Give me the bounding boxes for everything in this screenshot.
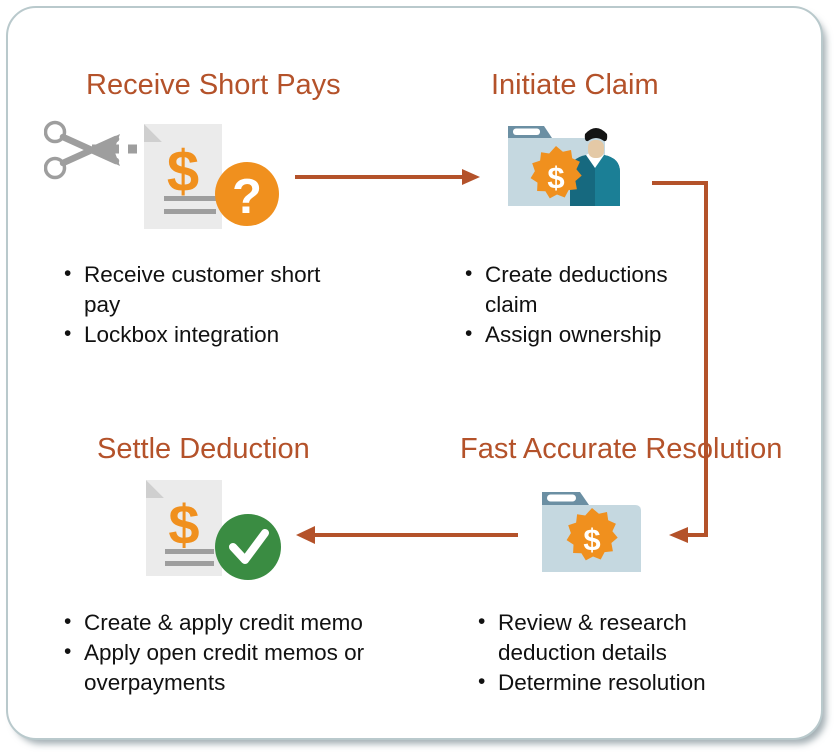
arrow-head-left-icon <box>669 527 688 543</box>
claim-folder-person-icon: $ <box>500 114 655 231</box>
list-item: Review & research deduction details <box>476 608 766 668</box>
diagram-card: Receive Short Pays Initiate Claim Settle… <box>6 6 823 740</box>
scissors-cut-invoice-question-icon: $ ? <box>44 116 284 241</box>
bullet-list-fast-accurate-resolution: Review & research deduction details Dete… <box>476 608 766 698</box>
step-heading-initiate-claim: Initiate Claim <box>491 68 659 102</box>
bullet-list-initiate-claim: Create deductions claim Assign ownership <box>463 260 723 350</box>
list-item: Determine resolution <box>476 668 766 698</box>
step-heading-receive-short-pays: Receive Short Pays <box>86 68 341 102</box>
connector-initiate-to-resolution <box>648 168 738 558</box>
folder-tab-icon <box>542 492 589 505</box>
invoice-document-icon: $ <box>144 124 222 229</box>
folder-tab-icon <box>508 126 552 138</box>
connector-elbow-path <box>652 183 706 535</box>
question-glyph: ? <box>232 170 262 224</box>
arrow-head-right-icon <box>462 169 480 185</box>
dollar-glyph: $ <box>547 160 564 195</box>
list-item: Receive customer short pay <box>62 260 362 320</box>
list-item: Apply open credit memos or overpayments <box>62 638 410 698</box>
arrow-head-left-icon <box>296 526 315 544</box>
list-item: Lockbox integration <box>62 320 362 350</box>
connector-resolution-to-settle <box>290 516 530 556</box>
step-heading-settle-deduction: Settle Deduction <box>97 432 310 466</box>
diagram-card-inner: Receive Short Pays Initiate Claim Settle… <box>8 8 821 738</box>
dollar-folder-icon: $ <box>536 486 648 583</box>
list-item: Assign ownership <box>463 320 723 350</box>
dollar-glyph: $ <box>168 493 199 556</box>
invoice-check-icon-svg: $ <box>138 476 283 584</box>
bullet-list-receive-short-pays: Receive customer short pay Lockbox integ… <box>62 260 362 350</box>
scissors-icon <box>46 123 121 178</box>
invoice-check-icon: $ <box>138 476 283 589</box>
green-check-badge-icon <box>215 514 281 580</box>
dollar-folder-icon-svg: $ <box>536 486 648 578</box>
diagram-canvas: Receive Short Pays Initiate Claim Settle… <box>0 0 837 752</box>
question-mark-badge-icon: ? <box>215 162 279 226</box>
invoice-document-icon: $ <box>146 480 222 576</box>
connector-receive-to-initiate <box>290 158 490 198</box>
dollar-glyph: $ <box>583 522 600 557</box>
scissors-cut-invoice-question-icon-svg: $ ? <box>44 116 284 236</box>
claim-folder-person-icon-svg: $ <box>500 114 655 226</box>
bullet-list-settle-deduction: Create & apply credit memo Apply open cr… <box>62 608 410 698</box>
list-item: Create & apply credit memo <box>62 608 410 638</box>
list-item: Create deductions claim <box>463 260 723 320</box>
dollar-glyph: $ <box>167 139 199 204</box>
